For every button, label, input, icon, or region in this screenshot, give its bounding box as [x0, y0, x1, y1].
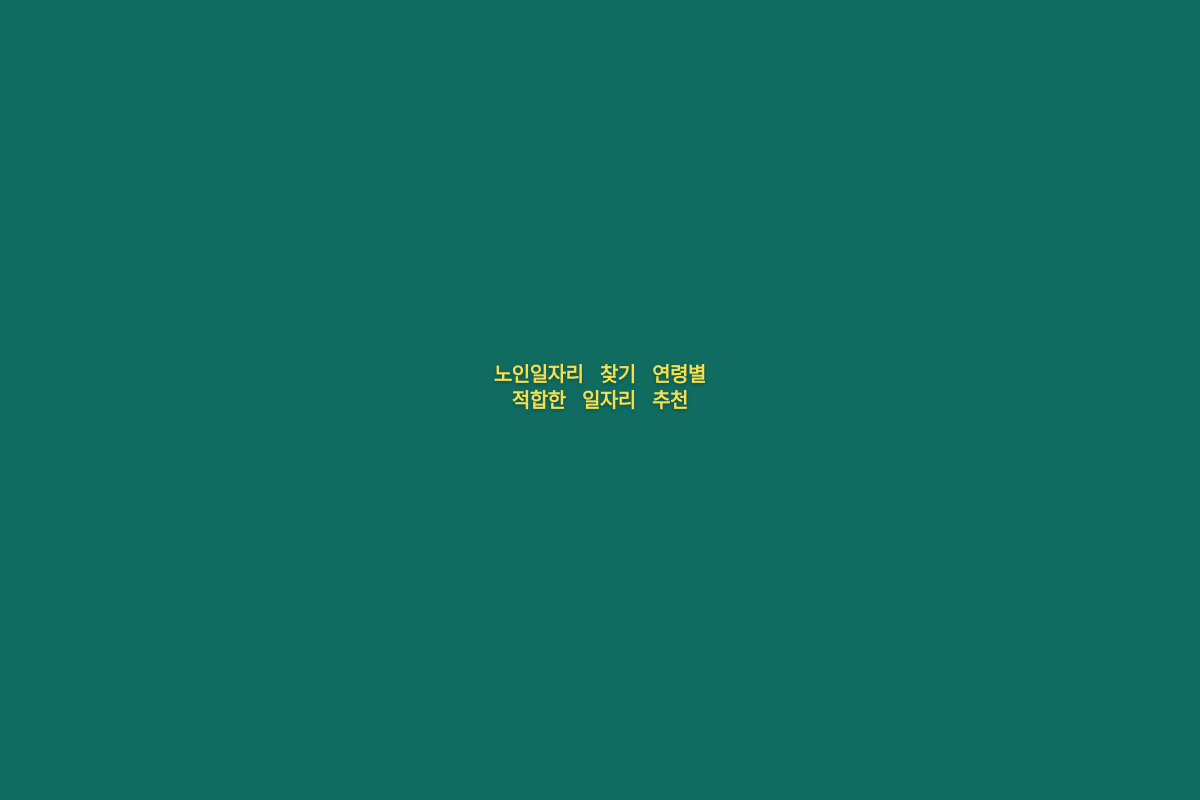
headline-line-1: 노인일자리 찾기 연령별 — [0, 362, 1200, 388]
thumbnail-canvas: 노인일자리 찾기 연령별 적합한 일자리 추천 — [0, 0, 1200, 800]
headline-block: 노인일자리 찾기 연령별 적합한 일자리 추천 — [0, 362, 1200, 413]
headline-line-2: 적합한 일자리 추천 — [0, 388, 1200, 414]
